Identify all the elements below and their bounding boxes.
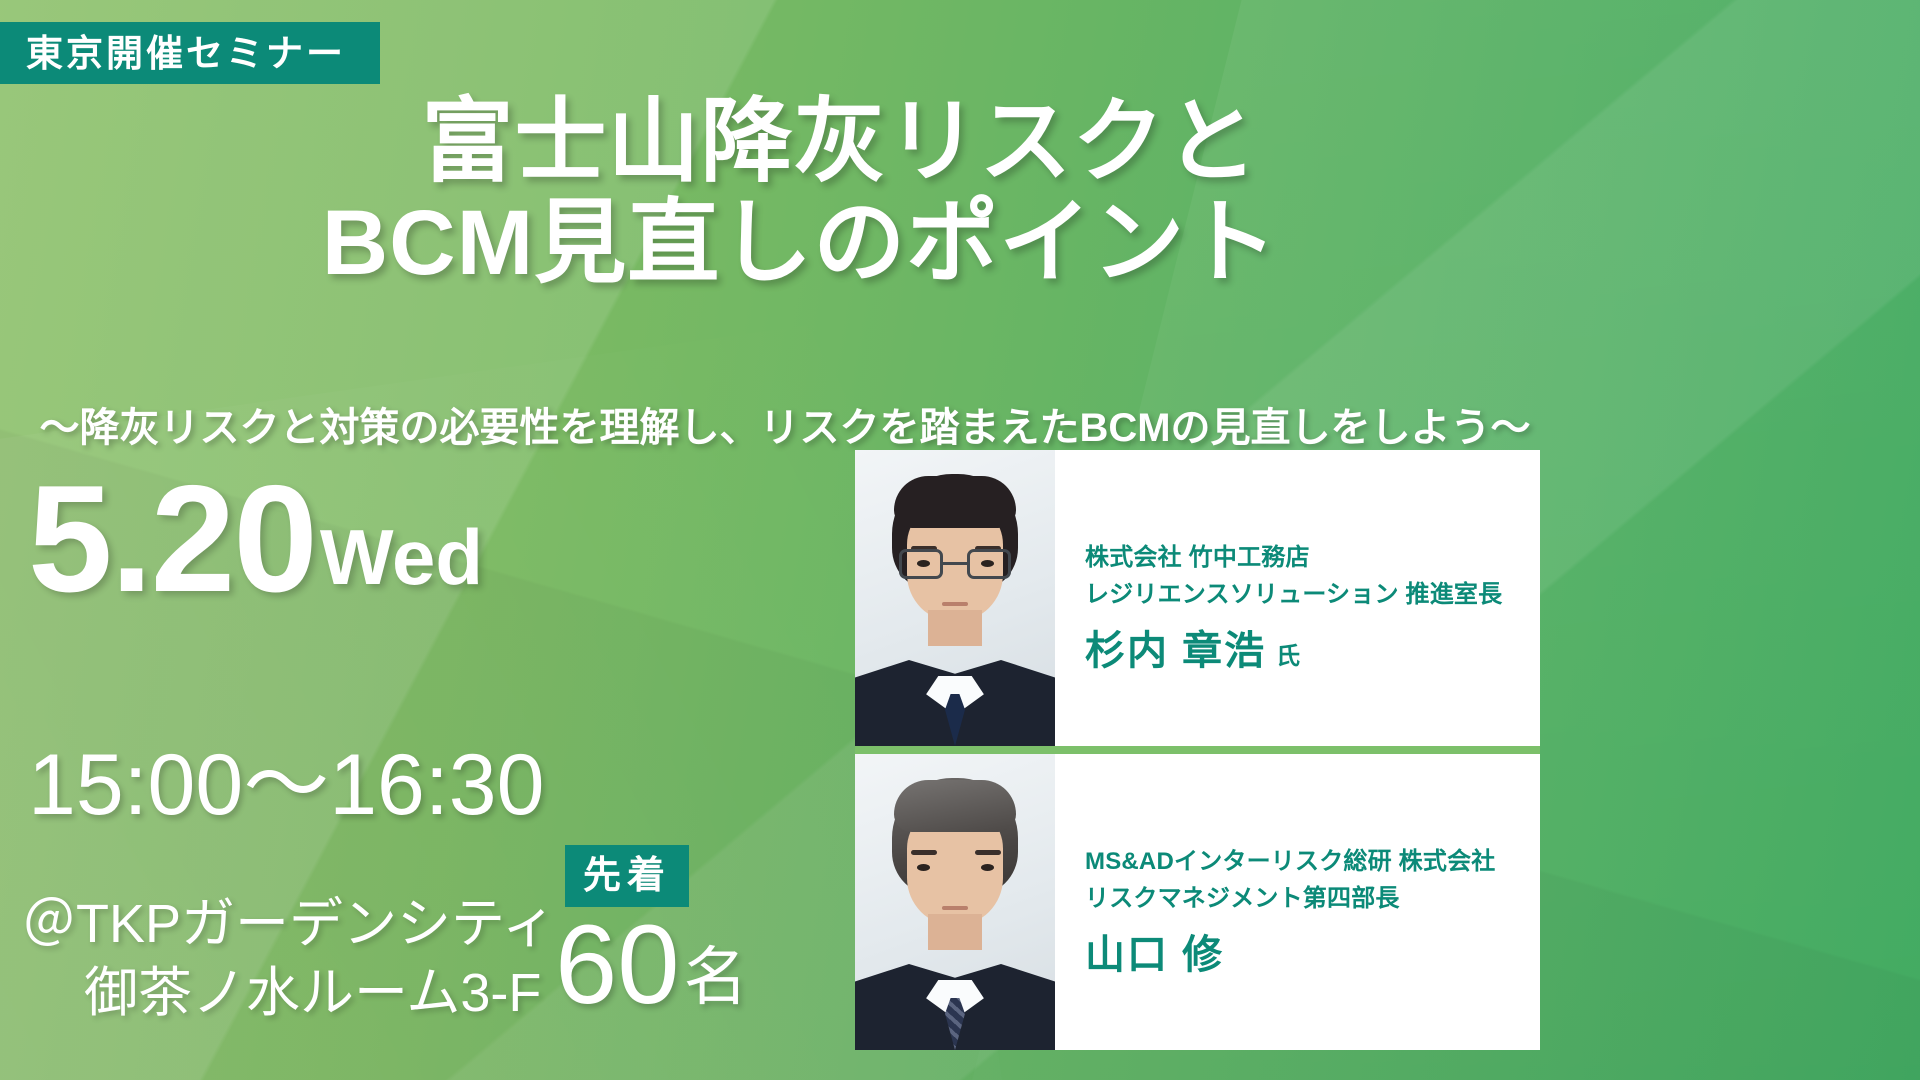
event-time: 15:00〜16:30 (28, 742, 544, 828)
speaker-affiliation-line-1: MS&ADインターリスク総研 株式会社 (1085, 843, 1528, 880)
speaker-card: 株式会社 竹中工務店 レジリエンスソリューション 推進室長 杉内 章浩 氏 (855, 450, 1540, 746)
speaker-name-row-1: 杉内 章浩 氏 (1085, 629, 1528, 673)
speaker-name-row-2: 山口 修 (1085, 933, 1528, 977)
capacity-number: 60 (555, 912, 680, 1017)
event-date: 5.20 Wed (28, 470, 483, 610)
speaker-honorific-1: 氏 (1276, 636, 1300, 671)
capacity-badge-label: 先着 (583, 857, 671, 895)
page-subtitle: 〜降灰リスクと対策の必要性を理解し、リスクを踏まえたBCMの見直しをしよう〜 (0, 404, 1570, 452)
speaker-name-2: 山口 修 (1085, 933, 1224, 977)
seminar-location-badge-label: 東京開催セミナー (26, 35, 346, 72)
speaker-affiliation-line-2: リスクマネジメント第四部長 (1085, 880, 1528, 917)
speaker-info-2: MS&ADインターリスク総研 株式会社 リスクマネジメント第四部長 山口 修 (1055, 754, 1540, 1050)
speaker-affiliation-line-2: レジリエンスソリューション 推進室長 (1085, 576, 1528, 613)
speaker-portrait-1 (855, 450, 1055, 746)
seminar-banner: 東京開催セミナー 富士山降灰リスクと BCM見直しのポイント 〜降灰リスクと対策… (0, 0, 1920, 1080)
title-line-1: 富士山降灰リスクと (0, 92, 1560, 193)
speaker-card: MS&ADインターリスク総研 株式会社 リスクマネジメント第四部長 山口 修 (855, 754, 1540, 1050)
capacity-value: 60 名 (555, 912, 748, 1017)
speaker-affiliation-line-1: 株式会社 竹中工務店 (1085, 539, 1528, 576)
speaker-portrait-2 (855, 754, 1055, 1050)
capacity-unit: 名 (684, 945, 748, 1017)
page-title: 富士山降灰リスクと BCM見直しのポイント (0, 92, 1560, 294)
seminar-location-badge: 東京開催セミナー (0, 22, 380, 84)
capacity-badge: 先着 (565, 845, 689, 907)
event-venue-line-1: ＠TKPガーデンシティ (22, 890, 556, 959)
speaker-name-1: 杉内 章浩 (1085, 629, 1266, 673)
event-date-number: 5.20 (28, 470, 316, 610)
speaker-list: 株式会社 竹中工務店 レジリエンスソリューション 推進室長 杉内 章浩 氏 (855, 450, 1540, 1050)
speaker-divider (855, 746, 1540, 754)
event-venue-line-2: 御茶ノ水ルーム3-F (22, 959, 556, 1028)
speaker-info-1: 株式会社 竹中工務店 レジリエンスソリューション 推進室長 杉内 章浩 氏 (1055, 450, 1540, 746)
event-day-of-week: Wed (320, 518, 483, 610)
event-venue: ＠TKPガーデンシティ 御茶ノ水ルーム3-F (22, 890, 556, 1028)
glasses-icon (899, 549, 1011, 579)
title-line-2: BCM見直しのポイント (0, 193, 1560, 294)
